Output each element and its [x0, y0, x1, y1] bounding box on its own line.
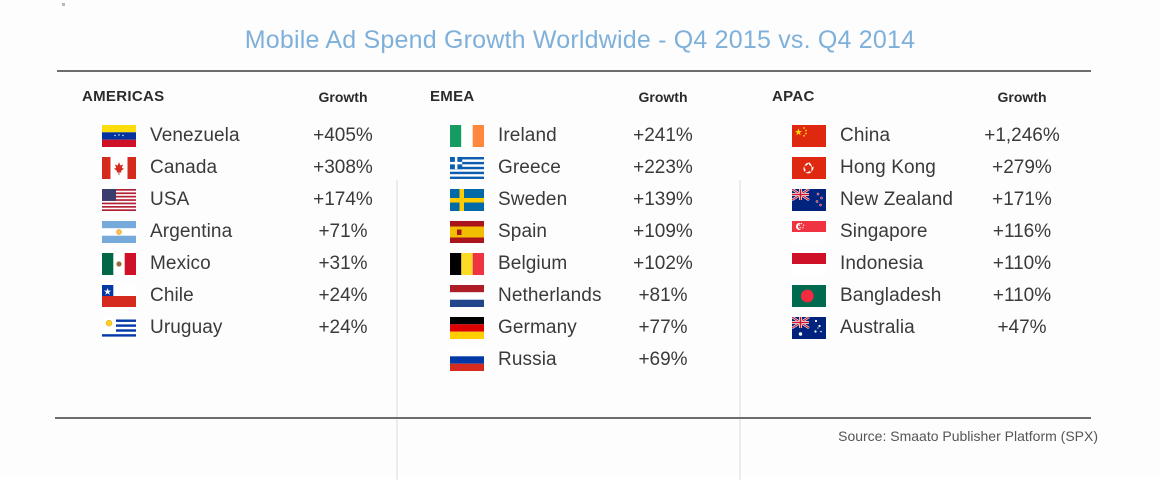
rows-apac: China +1,246% Hong Kong +279% New Zealan… — [760, 120, 1090, 344]
table-row: Indonesia +110% — [760, 248, 1090, 280]
country-label: Germany — [498, 317, 577, 339]
growth-header-emea: Growth — [618, 89, 708, 105]
netherlands-flag — [450, 285, 484, 307]
table-row: USA +174% — [70, 184, 390, 216]
growth-value: +81% — [618, 285, 708, 307]
bottom-divider-rule — [55, 417, 1091, 419]
table-row: Venezuela +405% — [70, 120, 390, 152]
table-row: Russia +69% — [418, 344, 736, 376]
growth-value: +110% — [972, 253, 1072, 275]
table-row: Spain +109% — [418, 216, 736, 248]
country-label: Argentina — [150, 221, 232, 243]
column-divider-1 — [396, 180, 398, 480]
country-label: Sweden — [498, 189, 567, 211]
china-flag — [792, 125, 826, 147]
singapore-flag — [792, 221, 826, 243]
top-divider-rule — [57, 70, 1091, 72]
growth-value: +69% — [618, 349, 708, 371]
growth-value: +308% — [298, 157, 388, 179]
table-row: Singapore +116% — [760, 216, 1090, 248]
region-label-emea: EMEA — [430, 88, 475, 105]
growth-value: +102% — [618, 253, 708, 275]
table-row: Belgium +102% — [418, 248, 736, 280]
country-label: Bangladesh — [840, 285, 941, 307]
table-row: Chile +24% — [70, 280, 390, 312]
growth-value: +71% — [298, 221, 388, 243]
argentina-flag — [102, 221, 136, 243]
region-label-apac: APAC — [772, 88, 815, 105]
growth-value: +139% — [618, 189, 708, 211]
table-row: Australia +47% — [760, 312, 1090, 344]
newzealand-flag — [792, 189, 826, 211]
country-label: Chile — [150, 285, 194, 307]
table-row: Canada +308% — [70, 152, 390, 184]
mexico-flag — [102, 253, 136, 275]
table-row: Bangladesh +110% — [760, 280, 1090, 312]
usa-flag — [102, 189, 136, 211]
growth-value: +109% — [618, 221, 708, 243]
bangladesh-flag — [792, 285, 826, 307]
table-row: Mexico +31% — [70, 248, 390, 280]
venezuela-flag — [102, 125, 136, 147]
source-attribution: Source: Smaato Publisher Platform (SPX) — [838, 428, 1098, 444]
indonesia-flag — [792, 253, 826, 275]
table-row: Sweden +139% — [418, 184, 736, 216]
region-column-americas: AMERICAS Growth Venezuela +405% Canada — [70, 88, 390, 344]
growth-value: +24% — [298, 317, 388, 339]
country-label: China — [840, 125, 890, 147]
country-label: Canada — [150, 157, 217, 179]
region-columns: AMERICAS Growth Venezuela +405% Canada — [0, 88, 1160, 398]
country-label: Greece — [498, 157, 561, 179]
table-row: Greece +223% — [418, 152, 736, 184]
growth-value: +174% — [298, 189, 388, 211]
growth-value: +171% — [972, 189, 1072, 211]
region-label-americas: AMERICAS — [82, 88, 164, 105]
column-divider-2 — [739, 180, 741, 480]
infographic-root: Mobile Ad Spend Growth Worldwide - Q4 20… — [0, 0, 1160, 476]
country-label: New Zealand — [840, 189, 953, 211]
belgium-flag — [450, 253, 484, 275]
table-row: New Zealand +171% — [760, 184, 1090, 216]
growth-header-americas: Growth — [298, 89, 388, 105]
growth-value: +77% — [618, 317, 708, 339]
table-row: Hong Kong +279% — [760, 152, 1090, 184]
growth-value: +24% — [298, 285, 388, 307]
sweden-flag — [450, 189, 484, 211]
australia-flag — [792, 317, 826, 339]
growth-value: +31% — [298, 253, 388, 275]
page-speck — [62, 3, 65, 6]
column-header-emea: EMEA Growth — [418, 88, 736, 120]
spain-flag — [450, 221, 484, 243]
country-label: Singapore — [840, 221, 928, 243]
growth-value: +110% — [972, 285, 1072, 307]
germany-flag — [450, 317, 484, 339]
region-column-apac: APAC Growth China +1,246% Hong Kong +27 — [760, 88, 1090, 344]
table-row: Netherlands +81% — [418, 280, 736, 312]
region-column-emea: EMEA Growth Ireland +241% Greece +223% — [418, 88, 736, 376]
country-label: Indonesia — [840, 253, 923, 275]
growth-value: +116% — [972, 221, 1072, 243]
page-title: Mobile Ad Spend Growth Worldwide - Q4 20… — [0, 26, 1160, 55]
rows-americas: Venezuela +405% Canada +308% USA +174% — [70, 120, 390, 344]
country-label: Uruguay — [150, 317, 223, 339]
table-row: China +1,246% — [760, 120, 1090, 152]
growth-value: +241% — [618, 125, 708, 147]
table-row: Germany +77% — [418, 312, 736, 344]
table-row: Ireland +241% — [418, 120, 736, 152]
uruguay-flag — [102, 317, 136, 339]
growth-header-apac: Growth — [972, 89, 1072, 105]
growth-value: +223% — [618, 157, 708, 179]
country-label: Netherlands — [498, 285, 602, 307]
growth-value: +279% — [972, 157, 1072, 179]
country-label: Spain — [498, 221, 547, 243]
growth-value: +405% — [298, 125, 388, 147]
column-header-americas: AMERICAS Growth — [70, 88, 390, 120]
country-label: Mexico — [150, 253, 211, 275]
country-label: Australia — [840, 317, 915, 339]
country-label: Belgium — [498, 253, 567, 275]
country-label: Russia — [498, 349, 557, 371]
table-row: Argentina +71% — [70, 216, 390, 248]
column-header-apac: APAC Growth — [760, 88, 1090, 120]
russia-flag — [450, 349, 484, 371]
ireland-flag — [450, 125, 484, 147]
growth-value: +47% — [972, 317, 1072, 339]
country-label: Ireland — [498, 125, 557, 147]
country-label: USA — [150, 189, 189, 211]
greece-flag — [450, 157, 484, 179]
rows-emea: Ireland +241% Greece +223% Sweden +139% — [418, 120, 736, 376]
growth-value: +1,246% — [972, 125, 1072, 147]
hongkong-flag — [792, 157, 826, 179]
canada-flag — [102, 157, 136, 179]
country-label: Venezuela — [150, 125, 240, 147]
table-row: Uruguay +24% — [70, 312, 390, 344]
chile-flag — [102, 285, 136, 307]
country-label: Hong Kong — [840, 157, 936, 179]
